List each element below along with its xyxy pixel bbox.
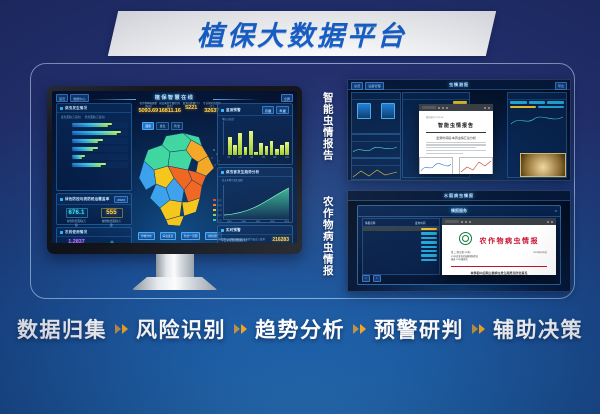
bar-row xyxy=(60,129,128,137)
tick-label: 2022 xyxy=(270,221,275,223)
kpi-card: 农作物种植面积(万亩) 5093.69 xyxy=(138,102,159,114)
pagination-next[interactable]: > xyxy=(373,275,381,282)
doc-text-line xyxy=(426,142,486,143)
panel-title: 农药使用情况 xyxy=(65,230,87,235)
bar-row xyxy=(60,161,128,169)
doc-meta: 报告编号 2023-08 xyxy=(426,115,486,119)
chart-note: 近五年累计发生面积 xyxy=(218,177,292,182)
process-flow: 数据归集 风险识别 趋势分析 预警研判 辅助决策 xyxy=(0,306,600,352)
poster-root: 植保大数据平台 首页 数据中心 全屏 植保智慧在线 病虫发生情况 xyxy=(0,0,600,414)
flow-step-risk-identification: 风险识别 xyxy=(136,314,226,344)
doc-subtitle: 单季稻中后期主要病虫发生趋势及防治意见 xyxy=(451,271,547,275)
download-icon[interactable] xyxy=(547,221,549,223)
pdf-viewer-crop-bulletin[interactable]: 农作物病虫情报 第 二 期(总第 36 期) XX市农业农村局植保植检站 编发:… xyxy=(442,218,556,275)
title-banner: 植保大数据平台 xyxy=(108,11,496,56)
pagination-prev[interactable]: < xyxy=(362,275,370,282)
mini-panel-title xyxy=(352,159,400,166)
mini-panel-title xyxy=(403,93,469,100)
year-filter[interactable]: 2023 xyxy=(114,196,128,203)
bar-track xyxy=(72,130,128,136)
panel-title: 监测预警 xyxy=(226,108,241,113)
mini-panel-title xyxy=(352,93,400,100)
zoom-out-icon[interactable] xyxy=(461,221,463,223)
double-chevron-right-icon xyxy=(115,324,128,334)
dashboard-title: 植保智慧在线 xyxy=(52,94,297,101)
doc-meta-line: 编发:XX市植保站 xyxy=(451,259,478,263)
filter-month[interactable]: 月度 xyxy=(262,106,275,114)
metric-pesticide-reduction: 农药减量(吨) xyxy=(99,239,125,243)
panel-header: 监测预警 月度 年度 xyxy=(218,104,292,116)
triangle-icon xyxy=(107,240,117,243)
modal-dialog: 情报服务 × 情报名称 发布时间 xyxy=(357,205,561,285)
monitor: 首页 数据中心 全屏 植保智慧在线 病虫发生情况 发生面积(万亩次) xyxy=(47,86,302,290)
pdf-toolbar[interactable] xyxy=(442,218,556,225)
metric-value: 555 xyxy=(102,210,122,216)
close-icon[interactable]: × xyxy=(555,208,557,213)
metric-value: 1,2837 xyxy=(64,239,90,243)
filename-chip xyxy=(422,106,436,109)
camera-feed-thumbnail[interactable] xyxy=(520,153,566,177)
button-pest-occurrence[interactable]: 病虫发生 xyxy=(160,232,177,240)
doc-divider xyxy=(451,266,547,267)
zoom-out-icon[interactable] xyxy=(438,107,440,109)
tick-label: 1月 xyxy=(227,156,230,159)
double-chevron-right-icon xyxy=(353,324,366,334)
page-title: 植保大数据平台 xyxy=(197,14,407,53)
bar-track xyxy=(72,162,128,168)
kpi-card: 病虫害发生面积(万亩次) 16811.16 xyxy=(159,102,181,114)
legend-item: 防治面积(万亩次) xyxy=(85,115,105,119)
tick-label: 5月 xyxy=(250,156,253,159)
area-chart xyxy=(223,185,289,220)
green-circular-seal-icon xyxy=(459,232,472,245)
bulletin-table: 情报名称 发布时间 xyxy=(362,218,440,275)
line-chart-icon xyxy=(221,171,224,174)
screenshot-crop-bulletin[interactable]: 水稻病虫情报 情报服务 × 情报名称 发布时间 xyxy=(347,190,571,292)
metric-group: 676.1 绿色防控面积(万亩) 555 统防统治面积(万亩) xyxy=(57,205,131,227)
bar-chart-horizontal: 发生面积(万亩次) 防治面积(万亩次) xyxy=(57,113,131,171)
bell-icon xyxy=(221,229,224,232)
panel-header: 绿色防控与统防统治覆盖率 2023 xyxy=(57,194,131,205)
tick-label: 7月 xyxy=(262,156,265,159)
kpi-row: 农作物种植面积(万亩) 5093.69 病虫害发生面积(万亩次) 16811.1… xyxy=(138,102,222,114)
bar-row xyxy=(60,137,128,145)
doc-text-line xyxy=(426,147,476,148)
flow-step-early-warning: 预警研判 xyxy=(374,314,464,344)
zoom-in-icon[interactable] xyxy=(465,221,467,223)
screenshot-title: 水稻病虫情报 xyxy=(348,193,570,199)
flask-icon xyxy=(60,231,63,234)
pdf-toolbar[interactable] xyxy=(419,104,493,111)
pdf-viewer-pest-report[interactable]: 报告编号 2023-08 智能虫情报告 监测时间段:本周虫情汇总分析 xyxy=(419,104,493,174)
doc-meta-date: 2023年8月8日 xyxy=(533,252,547,256)
bar-row xyxy=(60,153,128,161)
doc-title: 农作物病虫情报 xyxy=(479,236,539,246)
panel-title: 病虫害发生趋势分析 xyxy=(226,170,259,175)
tick-label: 2023 xyxy=(284,221,289,223)
metric-group: 1,2837 农药使用量(吨) 农药减量(吨) xyxy=(57,237,131,243)
x-axis-labels: 2019 2020 2021 2022 2023 xyxy=(218,220,292,223)
legend-item: 发生面积(万亩次) xyxy=(61,115,81,119)
panel-header: 农药使用情况 xyxy=(57,228,131,237)
mini-panel-title xyxy=(508,93,566,100)
bar-chart xyxy=(223,121,292,155)
filter-year[interactable]: 年度 xyxy=(276,106,289,114)
doc-divider xyxy=(426,132,486,133)
bar-track xyxy=(72,146,128,152)
flow-step-data-collection: 数据归集 xyxy=(17,314,107,344)
doc-chart-trend xyxy=(419,157,453,174)
tick-label: 2020 xyxy=(241,221,246,223)
tick-label: 2021 xyxy=(256,221,261,223)
table-header-row: 情报名称 发布时间 xyxy=(363,219,439,227)
map-svg xyxy=(136,128,224,234)
monitor-bezel: 首页 数据中心 全屏 植保智慧在线 病虫发生情况 发生面积(万亩次) xyxy=(47,86,302,254)
column-header-date: 发布时间 xyxy=(415,221,437,225)
bar-chart-icon xyxy=(221,109,224,112)
panel-header: 病虫害发生趋势分析 xyxy=(218,168,292,177)
download-icon[interactable] xyxy=(484,107,486,109)
screenshot-title: 虫情测报 xyxy=(348,82,570,88)
modal-title: 情报服务 xyxy=(358,206,560,217)
flow-step-decision-support: 辅助决策 xyxy=(493,314,583,344)
panel-title: 绿色防控与统防统治覆盖率 xyxy=(65,197,109,202)
metric-green-control: 676.1 绿色防控面积(万亩) xyxy=(66,208,88,227)
metric-pesticide-amount: 1,2837 农药使用量(吨) xyxy=(64,239,90,243)
doc-text-line xyxy=(426,150,486,151)
status-ticker: 系统提示:近期高温高湿,注意稻飞虱迁入监测 xyxy=(218,237,292,241)
metric-unified-control: 555 统防统治面积(万亩) xyxy=(101,208,123,227)
tick-label: 11月 xyxy=(285,156,289,159)
double-chevron-right-icon xyxy=(234,324,247,334)
panel-green-control: 绿色防控与统防统治覆盖率 2023 676.1 绿色防控面积(万亩) 555 统… xyxy=(56,193,132,225)
label-crop-pest-bulletin: 农作物病虫情报 xyxy=(322,196,333,277)
kpi-card: 监测点数量(个) 5221 xyxy=(181,102,202,114)
province-map[interactable]: 重发 偏重 中等 偏轻 轻发 xyxy=(136,128,224,234)
mini-panel-title xyxy=(352,135,400,142)
button-control-map[interactable]: 防治一张图 xyxy=(181,232,200,240)
x-axis-labels: 1月 3月 5月 7月 9月 11月 xyxy=(218,155,292,159)
pdf-page: 报告编号 2023-08 智能虫情报告 监测时间段:本周虫情汇总分析 xyxy=(419,111,493,174)
doc-charts xyxy=(426,157,486,174)
label-intelligent-pest-report: 智能虫情报告 xyxy=(322,92,333,161)
chart-icon xyxy=(60,107,63,110)
tick-label: 2019 xyxy=(227,221,232,223)
doc-chart-count xyxy=(459,157,493,174)
flow-step-trend-analysis: 趋势分析 xyxy=(255,314,345,344)
kpi-value: 5221 xyxy=(181,105,202,111)
bar-row xyxy=(60,145,128,153)
table-row[interactable] xyxy=(363,258,439,262)
kpi-value: 5093.69 xyxy=(138,108,159,114)
panel-title: 病虫发生情况 xyxy=(65,106,87,111)
doc-title: 智能虫情报告 xyxy=(426,122,486,129)
doc-text-line xyxy=(426,144,486,145)
print-icon[interactable] xyxy=(488,107,490,109)
button-crop-distribution[interactable]: 作物分布 xyxy=(138,232,155,240)
panel-header: 病虫发生情况 xyxy=(57,104,131,113)
screenshot-pest-monitoring[interactable]: 总览 设备管理 导出 虫情测报 xyxy=(347,79,571,181)
panel-title: 实时预警 xyxy=(226,228,241,233)
panel-pesticide-usage: 农药使用情况 1,2837 农药使用量(吨) 农药减量(吨) xyxy=(56,227,132,243)
panel-pest-occurrence: 病虫发生情况 发生面积(万亩次) 防治面积(万亩次) xyxy=(56,103,132,191)
bar-track xyxy=(72,122,128,128)
mini-panel-devices xyxy=(351,92,401,134)
mini-row xyxy=(508,105,566,109)
tick-label: 3月 xyxy=(239,156,242,159)
bar-row xyxy=(60,121,128,129)
monitor-stand-neck xyxy=(156,254,194,277)
pdf-page: 农作物病虫情报 第 二 期(总第 36 期) XX市农业农村局植保植检站 编发:… xyxy=(442,225,556,275)
panel-header: 实时预警 xyxy=(218,226,292,235)
bar-track xyxy=(72,138,128,144)
filename-chip xyxy=(445,220,459,223)
shield-icon xyxy=(60,198,63,201)
panel-trend-analysis: 病虫害发生趋势分析 近五年累计发生面积 xyxy=(217,167,293,223)
column-header-name: 情报名称 xyxy=(365,221,413,225)
monitor-stand-base xyxy=(132,277,218,290)
metric-value: 676.1 xyxy=(67,210,87,216)
zoom-in-icon[interactable] xyxy=(442,107,444,109)
double-chevron-right-icon xyxy=(472,324,485,334)
doc-text-line xyxy=(426,153,463,154)
mini-panel-trend xyxy=(351,134,401,158)
bar-track xyxy=(72,154,128,160)
print-icon[interactable] xyxy=(551,221,553,223)
map-action-buttons: 作物分布 病虫发生 防治一张图 绿色防控 xyxy=(138,232,222,240)
doc-subtitle: 监测时间段:本周虫情汇总分析 xyxy=(426,136,486,140)
page-nav-icon[interactable] xyxy=(446,107,448,109)
tick-label: 9月 xyxy=(273,156,276,159)
page-nav-icon[interactable] xyxy=(469,221,471,223)
dashboard-screen: 首页 数据中心 全屏 植保智慧在线 病虫发生情况 发生面积(万亩次) xyxy=(52,91,297,243)
panel-monitoring-warning: 监测预警 月度 年度 单位:万亩次 1月 xyxy=(217,103,293,165)
kpi-value: 16811.16 xyxy=(159,108,181,114)
mini-panel-chart xyxy=(351,158,401,180)
